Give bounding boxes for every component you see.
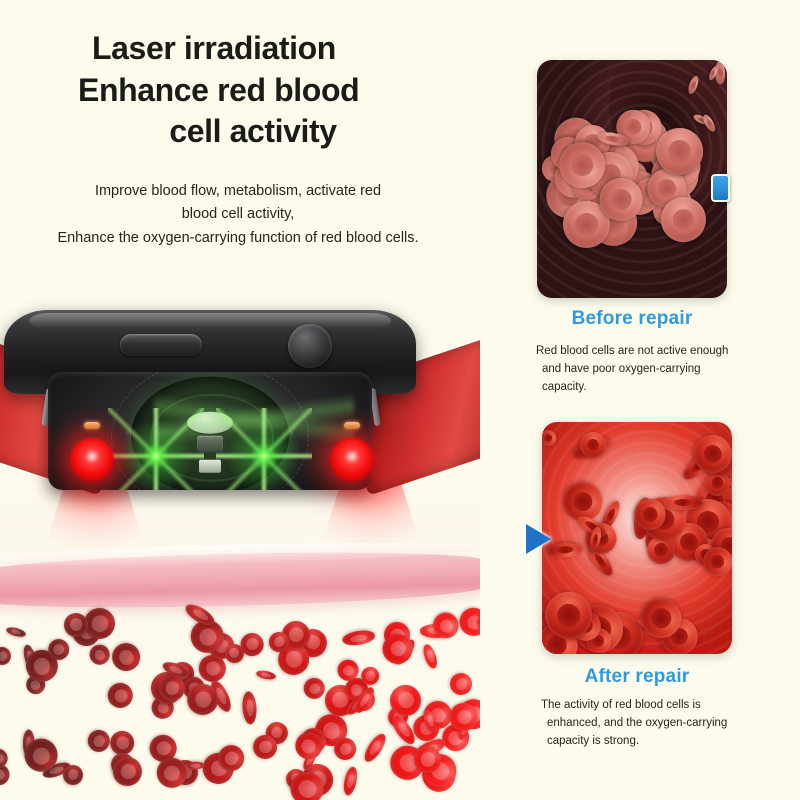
blood-cell — [5, 625, 26, 638]
blood-cell — [88, 643, 112, 667]
blue-badge-marker-icon — [711, 174, 730, 202]
blood-cell — [547, 542, 584, 559]
blood-cell — [255, 669, 276, 681]
blood-cell — [664, 495, 703, 511]
blood-cell — [361, 730, 390, 764]
watch-side-button[interactable] — [120, 334, 202, 356]
page-title: Laser irradiation Enhance red blood cell… — [48, 28, 438, 153]
headline-line-2: Enhance red blood — [48, 70, 438, 112]
subheadline: Improve blood flow, metabolism, activate… — [18, 180, 458, 250]
blood-cell — [253, 734, 278, 759]
red-led-emitter-left — [70, 438, 114, 482]
red-led-emitter-right — [330, 438, 374, 482]
sensor-ring — [131, 377, 289, 490]
blood-cell — [0, 645, 14, 668]
sensor-lens-icon — [187, 412, 233, 434]
after-repair-description: The activity of red blood cells is enhan… — [541, 696, 761, 750]
headline-line-3: cell activity — [48, 111, 438, 153]
product-illustration: SpO2 · Heart Rate · Sleep Monitor · Sede… — [0, 296, 480, 800]
sensor-contact-icon — [199, 459, 221, 472]
subheadline-line-3: Enhance the oxygen-carrying function of … — [18, 227, 458, 250]
blood-cell — [634, 498, 665, 529]
before-line-1: Red blood cells are not active enough — [536, 342, 756, 360]
blue-arrow-marker-icon — [526, 524, 551, 554]
blood-cell — [112, 757, 141, 786]
charging-contact-right — [344, 422, 360, 429]
marketing-image-canvas: Laser irradiation Enhance red blood cell… — [0, 0, 800, 800]
before-line-2: and have poor oxygen-carrying — [536, 360, 756, 378]
sensor-chip-icon — [197, 436, 223, 452]
subheadline-line-1: Improve blood flow, metabolism, activate… — [18, 180, 458, 203]
blood-cell — [84, 726, 113, 755]
after-repair-title: After repair — [542, 666, 732, 688]
blood-cell — [106, 637, 145, 676]
blood-cell — [341, 765, 359, 796]
subheadline-line-2: blood cell activity, — [18, 203, 458, 226]
charging-contact-left — [84, 422, 100, 429]
before-repair-image — [537, 60, 727, 298]
blood-cell — [448, 671, 475, 698]
after-line-1: The activity of red blood cells is — [541, 696, 761, 714]
blood-cell — [241, 691, 257, 725]
before-repair-title: Before repair — [537, 308, 727, 330]
blood-cell — [421, 643, 439, 670]
blood-cell — [341, 628, 376, 647]
watch-crown-button[interactable] — [288, 324, 332, 368]
after-repair-image — [542, 422, 732, 654]
blood-cell — [542, 427, 559, 449]
after-line-3: capacity is strong. — [541, 732, 761, 750]
headline-line-1: Laser irradiation — [48, 28, 438, 70]
after-line-2: enhanced, and the oxygen-carrying — [541, 714, 761, 732]
before-line-3: capacity. — [536, 378, 756, 396]
blood-cell-field — [0, 596, 480, 800]
blood-cell — [103, 679, 137, 713]
smartwatch-body: SpO2 · Heart Rate · Sleep Monitor · Sede… — [4, 310, 416, 506]
before-repair-description: Red blood cells are not active enough an… — [536, 342, 756, 396]
